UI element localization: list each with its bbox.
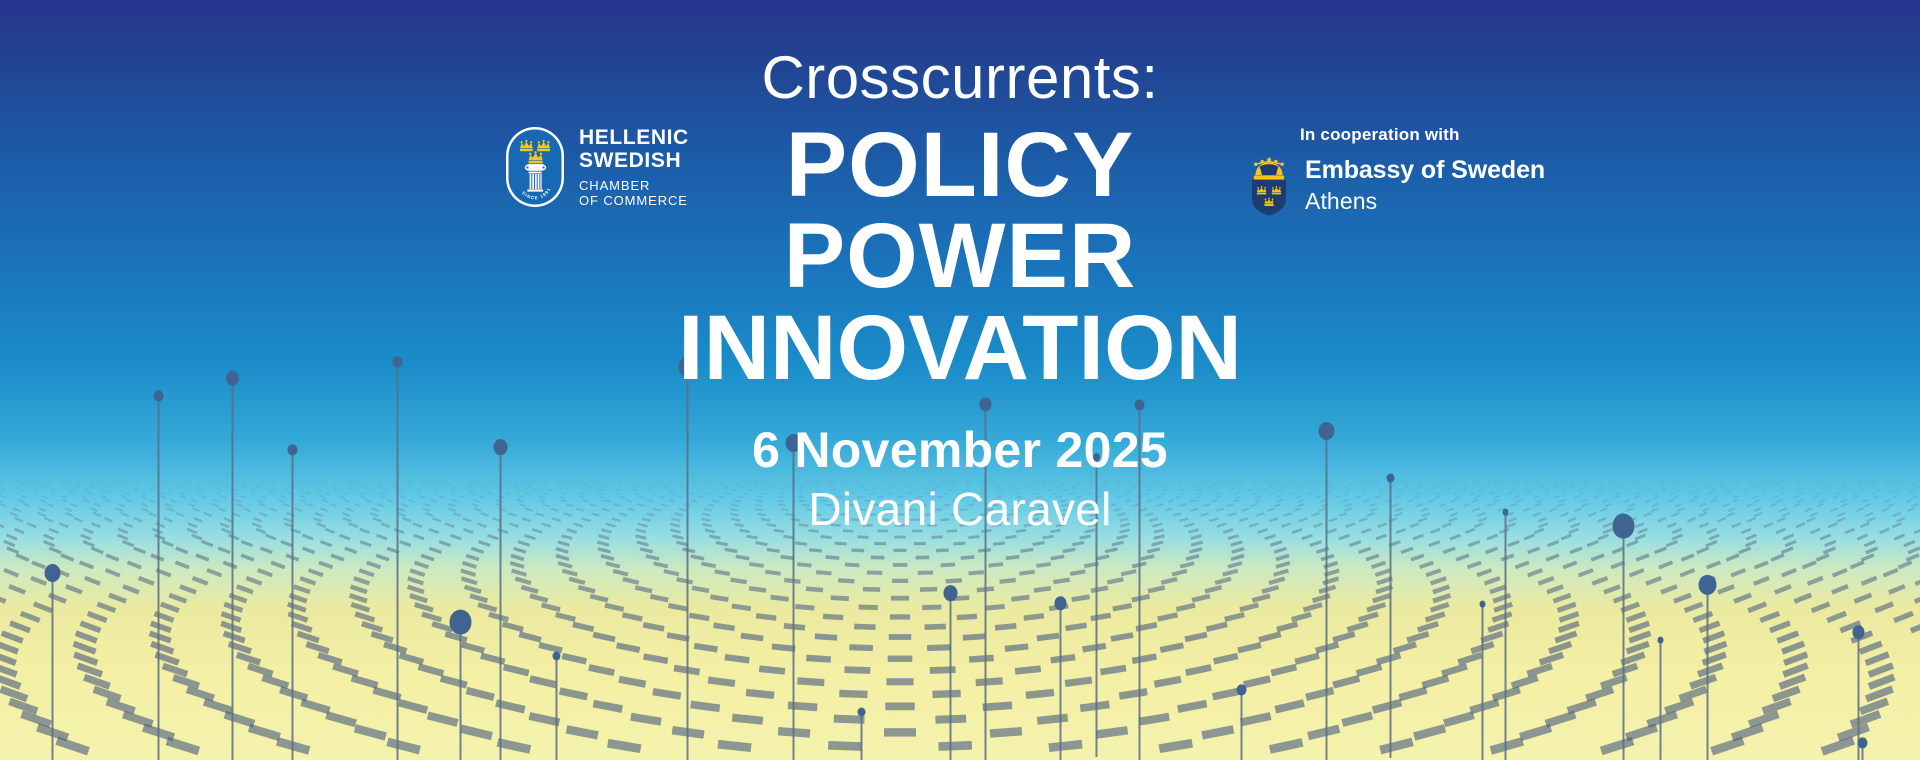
pin-head-icon <box>552 652 560 661</box>
pin-stem <box>291 450 293 760</box>
pin-stem <box>1138 405 1140 760</box>
decorative-pin <box>1096 457 1097 757</box>
pin-head-icon <box>857 708 865 717</box>
pin-stem <box>1504 512 1506 760</box>
pin-head-icon <box>1479 601 1485 608</box>
pin-stem <box>860 712 862 760</box>
pin-head-icon <box>979 397 991 411</box>
decorative-pin <box>1505 512 1506 760</box>
in-cooperation-with-label: In cooperation with <box>1300 125 1545 145</box>
pin-stem <box>949 593 951 760</box>
pin-head-icon <box>785 434 801 452</box>
decorative-pin <box>861 712 862 760</box>
pin-head-icon <box>1852 625 1864 639</box>
embassy-wordmark: Embassy of Sweden Athens <box>1305 158 1545 213</box>
decorative-pin <box>556 656 557 760</box>
hellenic-swedish-crest-icon: SINCE 1991 <box>505 126 565 208</box>
decorative-pin <box>1707 585 1708 760</box>
decorative-pin <box>292 450 293 760</box>
embassy-logo-row: Embassy of Sweden Athens <box>1245 154 1545 216</box>
decorative-pin <box>1060 603 1061 760</box>
hellenic-swedish-chamber-logo: SINCE 1991 HELLENIC SWEDISH CHAMBER OF C… <box>505 126 689 208</box>
decorative-pin <box>232 378 233 760</box>
hs-line-of-commerce: OF COMMERCE <box>579 194 689 207</box>
pin-stem <box>984 404 986 760</box>
decorative-pin <box>158 396 159 760</box>
decorative-pin <box>1139 405 1140 760</box>
embassy-city: Athens <box>1305 190 1545 213</box>
pin-head-icon <box>44 564 60 582</box>
hs-line-swedish: SWEDISH <box>579 150 689 171</box>
embassy-name: Embassy of Sweden <box>1305 158 1545 183</box>
pin-head-icon <box>1386 474 1394 483</box>
pin-stem <box>231 378 233 760</box>
hs-line-hellenic: HELLENIC <box>579 127 689 148</box>
pin-head-icon <box>1054 596 1066 610</box>
sweden-three-crowns-shield-icon <box>1245 154 1293 216</box>
decorative-pin <box>950 593 951 760</box>
embassy-of-sweden-block: In cooperation with <box>1245 125 1545 216</box>
decorative-pin <box>687 367 688 760</box>
pin-stem <box>792 443 794 760</box>
pin-stem <box>1240 690 1242 760</box>
decorative-pin <box>397 362 398 760</box>
pin-stem <box>555 656 557 760</box>
pin-stem <box>1389 478 1391 758</box>
decorative-pin <box>460 622 461 760</box>
pin-stem <box>1622 526 1624 760</box>
decorative-pin <box>1623 526 1624 760</box>
grid-svg <box>0 470 1920 760</box>
pin-stem <box>1059 603 1061 760</box>
perspective-grid <box>0 470 1920 760</box>
decorative-pin <box>985 404 986 760</box>
pin-head-icon <box>943 585 957 601</box>
pin-stem <box>51 573 53 760</box>
pin-stem <box>1706 585 1708 760</box>
pin-stem <box>686 367 688 760</box>
pin-head-icon <box>493 439 507 455</box>
decorative-pin <box>1326 431 1327 760</box>
pin-head-icon <box>1093 453 1100 461</box>
pin-stem <box>459 622 461 760</box>
pin-head-icon <box>449 610 471 635</box>
pin-head-icon <box>1502 509 1508 516</box>
decorative-pin <box>793 443 794 760</box>
decorative-pin <box>52 573 53 760</box>
pin-stem <box>1659 640 1661 760</box>
decorative-pin <box>1241 690 1242 760</box>
pin-stem <box>1481 604 1483 760</box>
pin-head-icon <box>1657 637 1663 644</box>
pin-head-icon <box>1612 514 1634 539</box>
decorative-pin <box>1390 478 1391 758</box>
decorative-pin <box>500 447 501 760</box>
hs-line-chamber: CHAMBER <box>579 179 689 192</box>
decorative-pin <box>1660 640 1661 760</box>
pin-head-icon <box>1318 422 1334 440</box>
decorative-pin <box>1862 743 1863 760</box>
decorative-pin <box>1482 604 1483 760</box>
pin-head-icon <box>226 371 239 386</box>
pin-stem <box>157 396 159 760</box>
pin-stem <box>1095 457 1097 757</box>
hellenic-swedish-wordmark: HELLENIC SWEDISH CHAMBER OF COMMERCE <box>579 127 689 207</box>
event-banner: SINCE 1991 HELLENIC SWEDISH CHAMBER OF C… <box>0 0 1920 760</box>
pin-stem <box>396 362 398 760</box>
pin-stem <box>499 447 501 760</box>
pin-stem <box>1325 431 1327 760</box>
